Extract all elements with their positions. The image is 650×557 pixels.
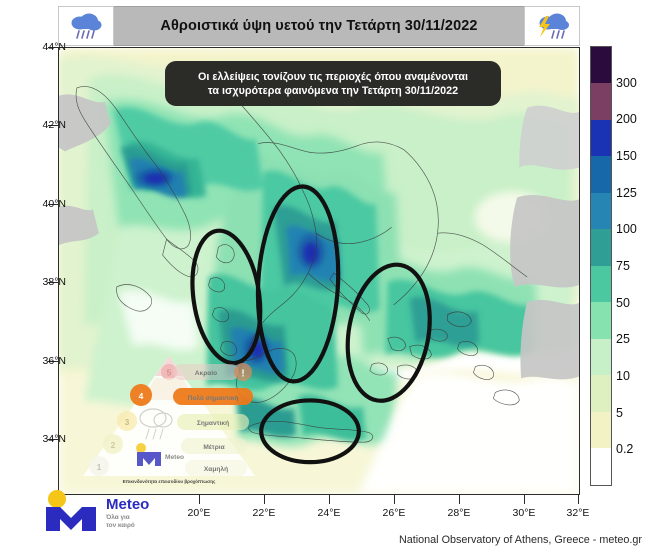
colorbar-label: 125 [616, 186, 637, 200]
colorbar-label: 10 [616, 369, 630, 383]
annotation-line-1: Οι ελλείψεις τονίζουν τις περιοχές όπου … [198, 71, 468, 83]
colorbar-cell [591, 302, 611, 338]
colorbar-cell [591, 120, 611, 156]
warning-exclamation-icon: ! [241, 369, 244, 380]
annotation-line-2: τα ισχυρότερα φαινόμενα την Τετάρτη 30/1… [208, 85, 458, 97]
title-bar: Αθροιστικά ύψη υετού την Τετάρτη 30/11/2… [114, 6, 524, 46]
colorbar-label: 200 [616, 112, 637, 126]
x-tick-30: 30°E [513, 507, 536, 519]
colorbar-cell [591, 448, 611, 484]
attribution-text: National Observatory of Athens, Greece -… [0, 534, 642, 546]
x-tick-28: 28°E [448, 507, 471, 519]
crete-ellipse [261, 400, 359, 462]
colorbar-cell [591, 229, 611, 265]
central-greece-thessaly-ellipse [253, 184, 343, 383]
x-tick-32: 32°E [567, 507, 590, 519]
colorbar-cell [591, 412, 611, 448]
colorbar-cell [591, 375, 611, 411]
annotation-callout: Οι ελλείψεις τονίζουν τις περιοχές όπου … [165, 61, 501, 106]
colorbar-cell [591, 47, 611, 83]
colorbar-label: 25 [616, 332, 630, 346]
colorbar-cell [591, 266, 611, 302]
y-tick-36: 36°N [43, 355, 66, 367]
colorbar-label: 300 [616, 76, 637, 90]
pyramid-level-2: 2 [103, 434, 123, 454]
pyramid-level-1-number: 1 [97, 462, 102, 472]
colorbar-label: 0.2 [616, 442, 633, 456]
logo-sun-icon [48, 490, 66, 508]
aegean-dodecanese-ellipse [338, 258, 440, 407]
colorbar-label: 100 [616, 222, 637, 236]
y-tick-44: 44°N [43, 41, 66, 53]
logo-brand: Meteo [106, 496, 149, 513]
map-canvas: Οι ελλείψεις τονίζουν τις περιοχές όπου … [59, 48, 579, 494]
thunderstorm-icon [524, 6, 580, 46]
pyramid-label-low: Χαμηλή [204, 465, 228, 473]
y-tick-42: 42°N [43, 119, 66, 131]
colorbar-cell [591, 193, 611, 229]
y-tick-34: 34°N [43, 433, 66, 445]
x-tick-24: 24°E [318, 507, 341, 519]
y-tick-40: 40°N [43, 198, 66, 210]
header-bar: Αθροιστικά ύψη υετού την Τετάρτη 30/11/2… [58, 6, 580, 46]
pyramid-label-significant: Σημαντική [197, 420, 229, 427]
severity-pyramid-legend: 5 4 3 2 1 Ακραίο [77, 352, 262, 487]
pyramid-label-very-significant: Πολύ σημαντική [188, 394, 239, 402]
rain-cloud-icon [58, 6, 114, 46]
ionian-islands-ellipse [185, 226, 269, 367]
y-tick-38: 38°N [43, 276, 66, 288]
pyramid-level-5-number: 5 [167, 368, 172, 378]
pyramid-label-moderate: Μέτρια [203, 444, 224, 451]
colorbar [590, 46, 612, 486]
pyramid-level-3-number: 3 [125, 417, 130, 427]
logo-tagline-2: τον καιρό [106, 522, 135, 529]
logo-tagline-1: Όλα για [105, 513, 130, 521]
x-tick-22: 22°E [253, 507, 276, 519]
colorbar-cell [591, 339, 611, 375]
pyramid-level-1: 1 [89, 456, 109, 476]
x-tick-26: 26°E [383, 507, 406, 519]
pyramid-level-2-number: 2 [111, 440, 116, 450]
colorbar-cell [591, 83, 611, 119]
colorbar-label: 5 [616, 406, 623, 420]
logo-m-mark [46, 507, 96, 531]
page-title: Αθροιστικά ύψη υετού την Τετάρτη 30/11/2… [160, 18, 477, 34]
colorbar-cell [591, 156, 611, 192]
precipitation-map[interactable]: Οι ελλείψεις τονίζουν τις περιοχές όπου … [58, 47, 580, 495]
meteo-logo[interactable]: Meteo Όλα για τον καιρό [40, 487, 200, 533]
colorbar-label: 150 [616, 149, 637, 163]
pyramid-level-3: 3 [117, 411, 137, 431]
pyramid-level-4-number: 4 [139, 391, 144, 401]
pyramid-logo-text: Meteo [165, 454, 184, 461]
colorbar-label: 75 [616, 259, 630, 273]
pyramid-label-extreme: Ακραίο [195, 370, 217, 377]
colorbar-label: 50 [616, 296, 630, 310]
pyramid-caption: Επικινδυνότητα επεισοδίου βροχόπτωσης [123, 479, 216, 485]
